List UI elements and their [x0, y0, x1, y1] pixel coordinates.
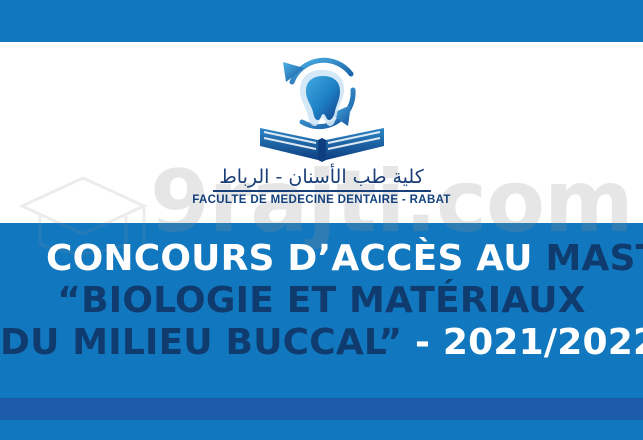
headline-line2-navy: “BIOLOGIE ET MATÉRIAUX — [57, 280, 585, 321]
bottom-blue-band — [0, 420, 643, 440]
logo-arabic-name: كلية طب الأسنان - الرباط — [0, 167, 643, 189]
logo-divider — [213, 190, 431, 192]
headline-line3-white: - 2021/2022 — [415, 322, 643, 363]
faculty-logo: كلية طب الأسنان - الرباط FACULTE DE MEDE… — [0, 48, 643, 206]
poster-announcement: 9rajti.com — [0, 0, 643, 440]
headline-line-3: DU MILIEU BUCCAL” - 2021/2022 — [0, 322, 643, 364]
headline-line1-white: CONCOURS D’ACCÈS AU — [46, 238, 533, 279]
headline-line1-navy: MASTER — [545, 238, 643, 279]
headline-line-1: CONCOURS D’ACCÈS AU MASTER — [0, 238, 643, 280]
tooth-recycle-book-logo — [252, 48, 392, 166]
headline-line-2: “BIOLOGIE ET MATÉRIAUX — [0, 280, 643, 322]
headline-line3-navy: DU MILIEU BUCCAL” — [0, 322, 402, 363]
top-blue-band — [0, 0, 643, 42]
dark-blue-stripe — [0, 398, 643, 420]
logo-french-name: FACULTE DE MEDECINE DENTAIRE - RABAT — [0, 194, 643, 206]
announcement-headline: CONCOURS D’ACCÈS AU MASTER “BIOLOGIE ET … — [0, 238, 643, 364]
